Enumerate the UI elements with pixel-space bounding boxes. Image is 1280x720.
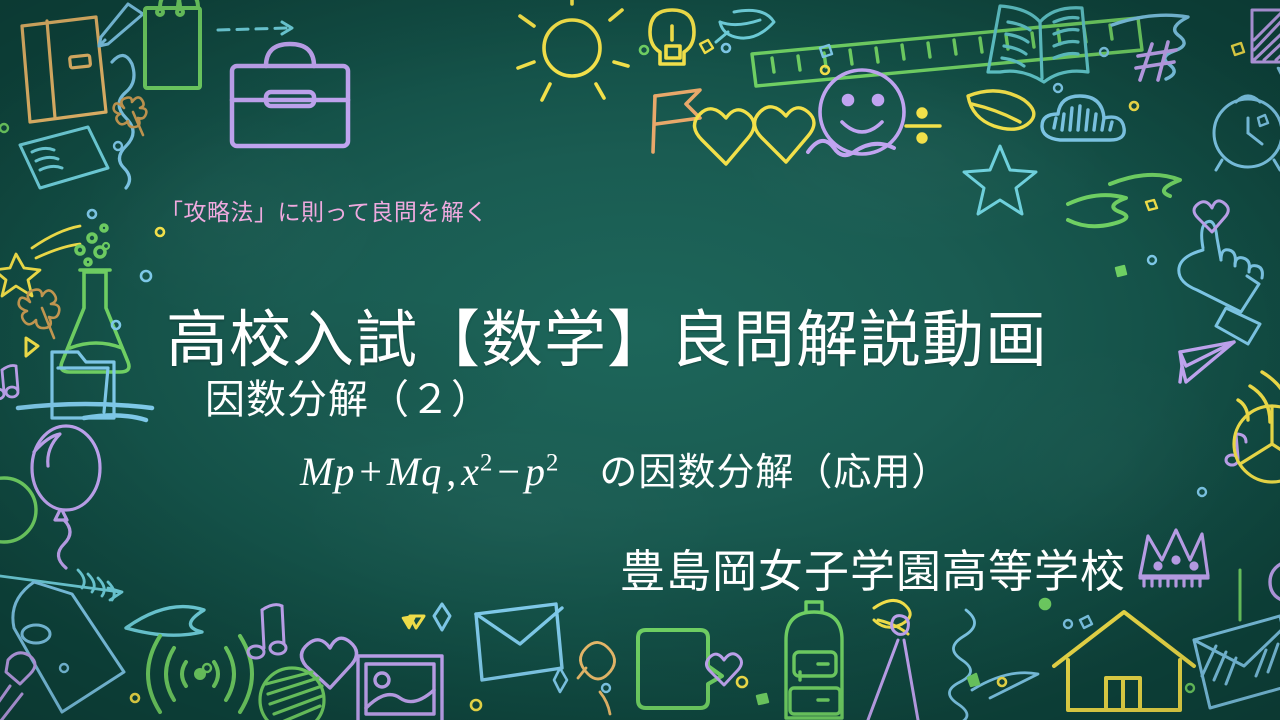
eyebrow-tagline: 「攻略法」に則って良問を解く xyxy=(160,193,488,227)
math-formula: Mp+Mq,x2−p2 xyxy=(300,448,559,495)
formula-plus: + xyxy=(355,449,387,494)
formula-term-2: Mq xyxy=(387,449,442,494)
formula-term-4: p xyxy=(525,449,546,494)
formula-comma: , xyxy=(442,449,461,494)
school-name: 豊島岡女子学園高等学校 xyxy=(620,535,1126,600)
formula-term-3-exponent: 2 xyxy=(480,450,493,477)
video-thumbnail-slide: 「攻略法」に則って良問を解く 高校入試【数学】良問解説動画 因数分解（２） Mp… xyxy=(0,0,1280,720)
formula-tail-label: の因数分解（応用） xyxy=(559,441,950,496)
topic-heading: 因数分解（２） xyxy=(205,367,492,425)
formula-term-1: Mp xyxy=(300,449,355,494)
formula-term-3: x xyxy=(461,449,480,494)
formula-term-4-exponent: 2 xyxy=(546,450,559,477)
formula-row: Mp+Mq,x2−p2 の因数分解（応用） xyxy=(300,441,950,496)
formula-minus: − xyxy=(493,449,525,494)
text-content-layer: 「攻略法」に則って良問を解く 高校入試【数学】良問解説動画 因数分解（２） Mp… xyxy=(0,0,1280,720)
page-title: 高校入試【数学】良問解説動画 xyxy=(166,289,1048,379)
